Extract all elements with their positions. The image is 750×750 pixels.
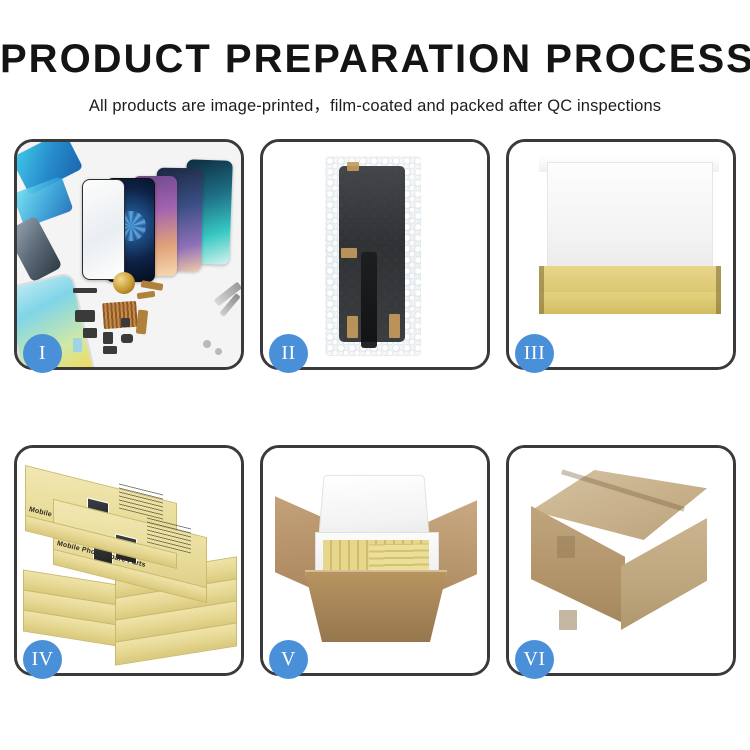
page-header: PRODUCT PREPARATION PROCESS All products… xyxy=(0,0,750,116)
small-component xyxy=(73,338,82,352)
step-5-image xyxy=(263,448,487,673)
wrapped-flex-cable xyxy=(361,252,377,348)
lcd-panel xyxy=(17,215,63,282)
process-step-panel-2: II xyxy=(260,139,490,370)
small-component xyxy=(103,332,113,344)
logic-board-component xyxy=(102,301,138,329)
small-component xyxy=(75,310,95,322)
flex-cable xyxy=(141,280,164,291)
process-step-grid: I II III xyxy=(14,139,736,676)
adhesive-tape xyxy=(341,248,357,258)
adhesive-tape xyxy=(347,162,359,171)
small-component xyxy=(121,318,130,327)
bubble-wrap-bag xyxy=(325,156,421,356)
step-badge-2: II xyxy=(269,334,308,373)
flex-cable xyxy=(136,310,148,335)
small-component xyxy=(121,334,133,343)
process-step-panel-1: I xyxy=(14,139,244,370)
box-edge xyxy=(539,266,544,314)
flex-cable xyxy=(137,291,156,299)
carton-tape xyxy=(559,610,577,630)
tempered-glass-protector xyxy=(82,179,125,280)
step-badge-3: III xyxy=(515,334,554,373)
step-2-image xyxy=(263,142,487,367)
carton-tape xyxy=(557,536,575,558)
foam-box-lid xyxy=(318,475,430,541)
screw xyxy=(215,348,222,355)
step-4-image: Mobile Phone Spare Parts Mobile Phone Sp… xyxy=(17,448,241,673)
small-component xyxy=(103,346,117,354)
step-badge-4: IV xyxy=(23,640,62,679)
process-step-panel-6: VI xyxy=(506,445,736,676)
process-step-panel-3: III xyxy=(506,139,736,370)
step-3-image xyxy=(509,142,733,367)
process-step-panel-4: Mobile Phone Spare Parts Mobile Phone Sp… xyxy=(14,445,244,676)
step-badge-1: I xyxy=(23,334,62,373)
speaker-component xyxy=(113,272,135,294)
step-6-image xyxy=(509,448,733,673)
carton-body xyxy=(305,572,447,642)
box-stack: Mobile Phone Spare Parts Mobile Phone Sp… xyxy=(23,470,235,656)
adhesive-tape xyxy=(389,314,400,338)
adhesive-tape xyxy=(347,316,358,338)
foam-liner xyxy=(547,162,713,272)
page-subtitle: All products are image-printed，film-coat… xyxy=(0,92,750,116)
small-component xyxy=(73,288,97,293)
step-badge-5: V xyxy=(269,640,308,679)
step-1-image xyxy=(17,142,241,367)
small-component xyxy=(83,328,97,338)
kraft-box-front xyxy=(539,292,721,314)
step-badge-6: VI xyxy=(515,640,554,679)
process-step-panel-5: V xyxy=(260,445,490,676)
box-edge xyxy=(716,266,721,314)
screw xyxy=(203,340,211,348)
page-title: PRODUCT PREPARATION PROCESS xyxy=(0,38,750,80)
